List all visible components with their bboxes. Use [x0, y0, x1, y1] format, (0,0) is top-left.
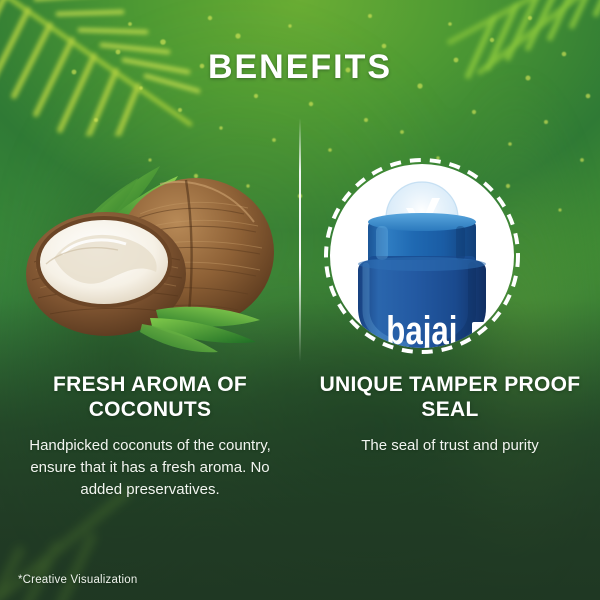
benefit-panel-fresh-aroma: FRESH AROMA OF COCONUTS Handpicked cocon…	[0, 150, 300, 580]
benefit-body: The seal of trust and purity	[300, 435, 600, 457]
palm-leaf-decor	[140, 307, 260, 352]
brand-leaf-mark	[472, 322, 494, 344]
brand-wordmark: bajaj	[386, 308, 457, 353]
infographic-canvas: BENEFITS	[0, 0, 600, 600]
coconut-illustration-icon	[10, 158, 290, 358]
benefit-heading: FRESH AROMA OF COCONUTS	[0, 372, 300, 422]
creative-visualization-note: *Creative Visualization	[18, 574, 137, 586]
coconut-art	[0, 150, 300, 365]
benefit-body: Handpicked coconuts of the country, ensu…	[0, 435, 300, 501]
benefit-heading: UNIQUE TAMPER PROOF SEAL	[300, 372, 600, 422]
benefit-panel-tamper-seal: bajaj UNIQUE TAMPER PROOF SEAL The seal …	[300, 150, 600, 580]
page-title: BENEFITS	[0, 48, 600, 87]
jar-seal-art: bajaj	[300, 150, 600, 365]
tamper-proof-seal-illustration-icon: bajaj	[322, 158, 522, 358]
